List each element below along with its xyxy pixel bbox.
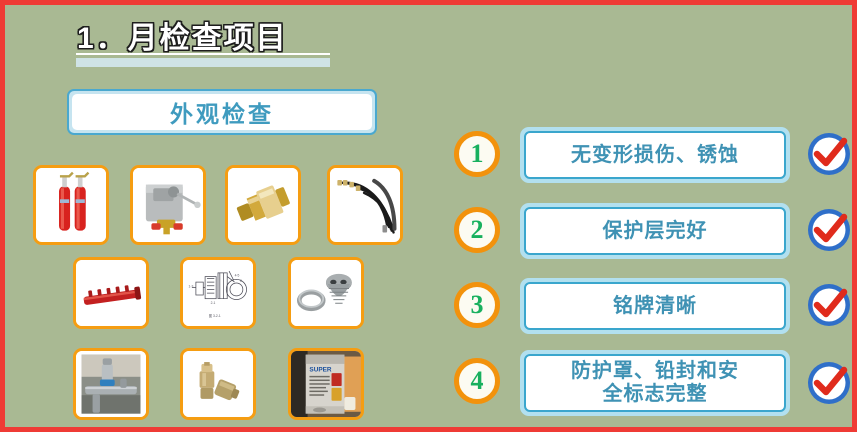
checklist-text-4-line2: 全标志完整: [571, 383, 739, 406]
thumbnail-valve-actuator[interactable]: [130, 165, 206, 245]
title-underline-thin: [76, 53, 330, 55]
checklist-number-1: 1: [454, 131, 500, 177]
svg-text:图 3-2-1: 图 3-2-1: [209, 314, 221, 318]
check-badge-4[interactable]: [805, 359, 853, 407]
thumbnail-installed-piping[interactable]: [73, 348, 149, 420]
brass-check-valve-icon: [228, 168, 298, 242]
thumbnail-red-manifold[interactable]: [73, 257, 149, 329]
check-badge-2[interactable]: [805, 206, 853, 254]
checklist-number-3-label: 3: [471, 290, 484, 320]
checklist-box-3-frame: 铭牌清晰: [524, 282, 786, 330]
section-header-inner: 外观检查: [72, 94, 372, 130]
checklist-number-2-label: 2: [471, 215, 484, 245]
section-header-box: 外观检查: [67, 89, 377, 135]
title-underline-bar: [76, 58, 330, 67]
flexible-hoses-icon: [330, 168, 400, 242]
thumbnail-gas-cylinders[interactable]: [33, 165, 109, 245]
checklist-box-4-frame: 防护罩、铅封和安 全标志完整: [524, 354, 786, 412]
page-title: 1．月检查项目: [77, 13, 288, 57]
thumbnail-spray-nozzle[interactable]: [288, 257, 364, 329]
checklist-box-1[interactable]: 无变形损伤、锈蚀: [520, 127, 790, 183]
check-badge-3[interactable]: [805, 281, 853, 329]
checklist-text-1: 无变形损伤、锈蚀: [571, 144, 739, 167]
checklist-box-4[interactable]: 防护罩、铅封和安 全标志完整: [520, 350, 790, 416]
svg-text:SUPER: SUPER: [309, 366, 332, 373]
checklist-box-3[interactable]: 铭牌清晰: [520, 278, 790, 334]
checklist-box-2-frame: 保护层完好: [524, 207, 786, 255]
thumbnail-flexible-hoses[interactable]: [327, 165, 403, 245]
valve-actuator-icon: [133, 168, 203, 242]
svg-text:4-5: 4-5: [235, 274, 240, 278]
checklist-number-4-label: 4: [471, 366, 484, 396]
checklist-text-3: 铭牌清晰: [613, 295, 697, 318]
thumbnail-brass-fittings[interactable]: [180, 348, 256, 420]
installed-piping-icon: [76, 351, 146, 417]
brass-fittings-icon: [183, 351, 253, 417]
checklist-text-4-line1: 防护罩、铅封和安: [571, 360, 739, 383]
svg-text:2-1: 2-1: [211, 301, 216, 305]
red-manifold-icon: [76, 260, 146, 326]
checklist-box-2[interactable]: 保护层完好: [520, 203, 790, 259]
thumbnail-technical-drawing[interactable]: 1-3 4-5 6 2-1 图 3-2-1: [180, 257, 256, 329]
checklist-text-2: 保护层完好: [603, 220, 708, 243]
section-header-label: 外观检查: [170, 95, 274, 129]
control-panel-icon: SUPER: [291, 351, 361, 417]
checklist-box-1-frame: 无变形损伤、锈蚀: [524, 131, 786, 179]
checklist-number-1-label: 1: [471, 139, 484, 169]
thumbnail-brass-check-valve[interactable]: [225, 165, 301, 245]
checklist-number-2: 2: [454, 207, 500, 253]
svg-text:1-3: 1-3: [189, 285, 194, 289]
gas-cylinders-icon: [36, 168, 106, 242]
checklist-number-3: 3: [454, 282, 500, 328]
spray-nozzle-icon: [291, 260, 361, 326]
check-badge-1[interactable]: [805, 130, 853, 178]
checklist-number-4: 4: [454, 358, 500, 404]
svg-text:6: 6: [240, 279, 242, 283]
thumbnail-control-panel[interactable]: SUPER: [288, 348, 364, 420]
technical-drawing-icon: 1-3 4-5 6 2-1 图 3-2-1: [183, 260, 253, 326]
slide-canvas: 1．月检查项目 外观检查: [0, 0, 857, 432]
